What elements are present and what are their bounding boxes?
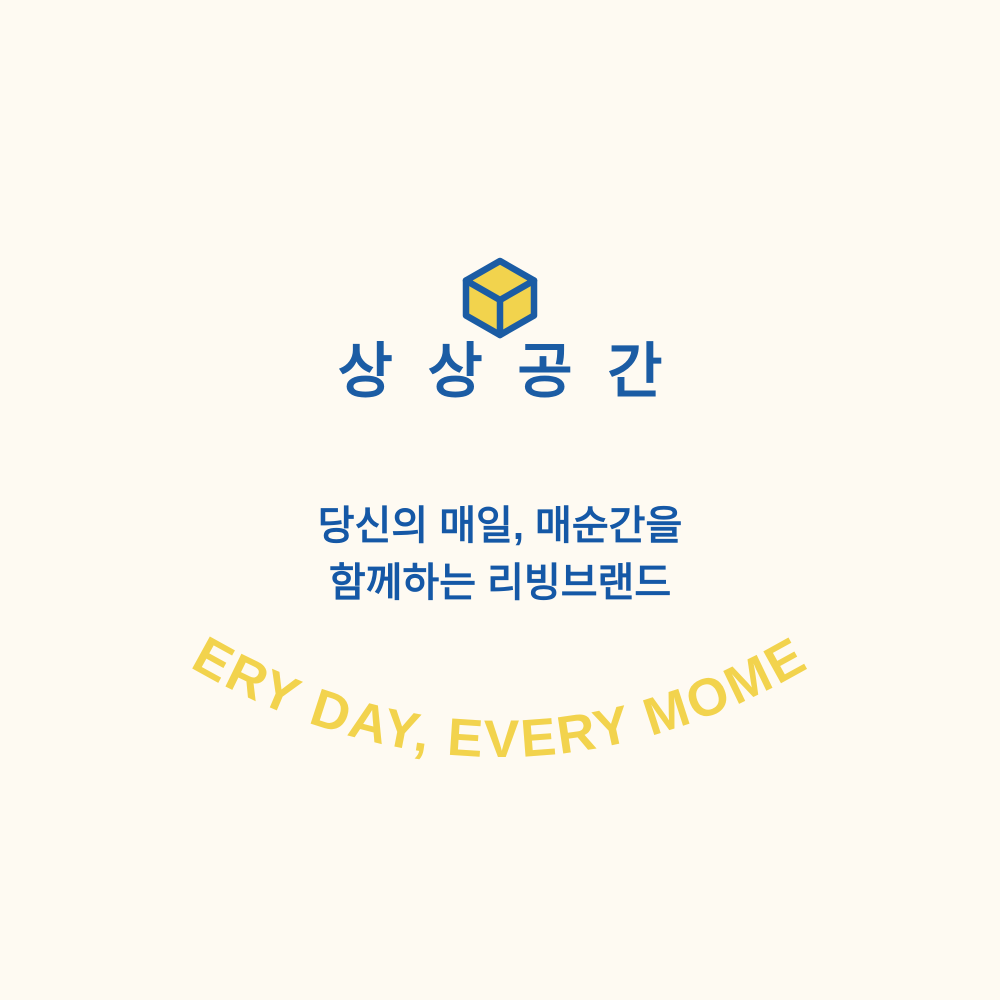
tagline-line-2: 함께하는 리빙브랜드 bbox=[0, 555, 1000, 612]
brand-poster: 상 상 공 간 당신의 매일, 매순간을 함께하는 리빙브랜드 EVERY DA… bbox=[0, 0, 1000, 1000]
logo-wordmark: 상 상 공 간 bbox=[0, 338, 1000, 406]
arc-slogan: EVERY DAY, EVERY MOMENT bbox=[90, 612, 910, 842]
tagline-line-1: 당신의 매일, 매순간을 bbox=[0, 498, 1000, 555]
tagline: 당신의 매일, 매순간을 함께하는 리빙브랜드 bbox=[0, 498, 1000, 612]
cube-icon bbox=[458, 256, 542, 340]
